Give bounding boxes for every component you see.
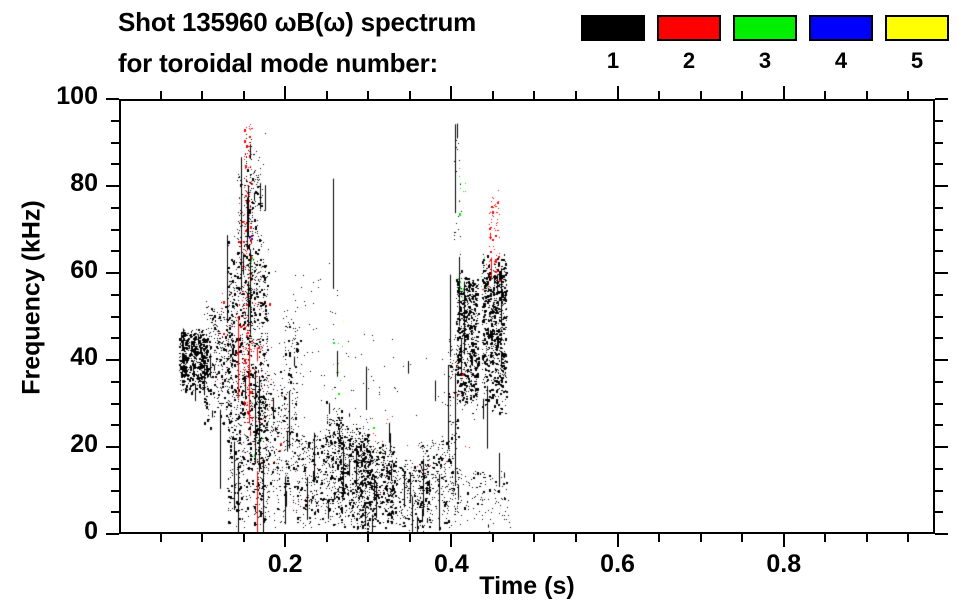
y-axis-title: Frequency (kHz) xyxy=(18,173,47,423)
x-tick-0.75 xyxy=(741,534,743,542)
x-axis-title: Time (s) xyxy=(119,572,935,601)
x-tick-top-0.25 xyxy=(326,91,328,99)
legend-swatch-mode-5 xyxy=(885,15,949,41)
x-tick-top-0.8 xyxy=(783,86,785,99)
legend-swatch-mode-1 xyxy=(581,15,645,41)
y-tick-right-80 xyxy=(935,185,948,187)
legend-item-mode-1[interactable]: 1 xyxy=(581,15,645,72)
y-tick-60 xyxy=(106,272,119,274)
legend: 12345 xyxy=(581,15,953,89)
spectrogram-scatter-canvas xyxy=(121,101,933,532)
y-tick-0 xyxy=(106,533,119,535)
x-tick-0.7 xyxy=(700,534,702,542)
x-tick-top-0.05 xyxy=(160,91,162,99)
y-tick-30 xyxy=(111,403,119,405)
x-tick-0.55 xyxy=(575,534,577,542)
x-tick-0.8 xyxy=(783,534,785,547)
y-tick-50 xyxy=(111,316,119,318)
y-tick-85 xyxy=(111,163,119,165)
legend-swatch-mode-4 xyxy=(809,15,873,41)
x-tick-top-0.85 xyxy=(824,91,826,99)
legend-swatch-mode-3 xyxy=(733,15,797,41)
y-tick-45 xyxy=(111,337,119,339)
x-tick-0.25 xyxy=(326,534,328,542)
x-tick-top-0.15 xyxy=(243,91,245,99)
y-tick-right-25 xyxy=(935,424,943,426)
y-tick-90 xyxy=(111,142,119,144)
y-tick-35 xyxy=(111,381,119,383)
legend-label-mode-1: 1 xyxy=(581,50,645,72)
y-tick-70 xyxy=(111,229,119,231)
y-tick-right-20 xyxy=(935,446,948,448)
legend-swatch-mode-2 xyxy=(657,15,721,41)
legend-label-mode-3: 3 xyxy=(733,50,797,72)
figure-root: Shot 135960 ωB(ω) spectrum for toroidal … xyxy=(0,0,963,615)
x-tick-0.9 xyxy=(866,534,868,542)
x-tick-0.4 xyxy=(450,534,452,547)
y-tick-right-10 xyxy=(935,490,943,492)
y-tick-right-65 xyxy=(935,250,943,252)
y-tick-25 xyxy=(111,424,119,426)
y-tick-right-60 xyxy=(935,272,948,274)
y-tick-40 xyxy=(106,359,119,361)
x-tick-top-0.45 xyxy=(492,91,494,99)
legend-item-mode-5[interactable]: 5 xyxy=(885,15,949,72)
x-tick-0.85 xyxy=(824,534,826,542)
y-tick-label-0: 0 xyxy=(0,517,98,546)
y-tick-55 xyxy=(111,294,119,296)
y-tick-right-95 xyxy=(935,120,943,122)
x-tick-top-0.55 xyxy=(575,91,577,99)
x-tick-top-0.7 xyxy=(700,91,702,99)
y-tick-right-5 xyxy=(935,511,943,513)
y-tick-10 xyxy=(111,490,119,492)
y-tick-label-60: 60 xyxy=(0,256,98,285)
y-tick-5 xyxy=(111,511,119,513)
x-tick-top-0.4 xyxy=(450,86,452,99)
y-tick-right-30 xyxy=(935,403,943,405)
legend-item-mode-2[interactable]: 2 xyxy=(657,15,721,72)
x-tick-top-0.75 xyxy=(741,91,743,99)
y-tick-95 xyxy=(111,120,119,122)
legend-item-mode-4[interactable]: 4 xyxy=(809,15,873,72)
y-tick-right-50 xyxy=(935,316,943,318)
y-tick-right-40 xyxy=(935,359,948,361)
x-tick-0.65 xyxy=(658,534,660,542)
y-tick-label-40: 40 xyxy=(0,343,98,372)
legend-item-mode-3[interactable]: 3 xyxy=(733,15,797,72)
y-tick-right-100 xyxy=(935,98,948,100)
x-tick-top-0.3 xyxy=(367,91,369,99)
y-tick-75 xyxy=(111,207,119,209)
y-tick-right-85 xyxy=(935,163,943,165)
x-tick-0.6 xyxy=(617,534,619,547)
y-tick-65 xyxy=(111,250,119,252)
x-tick-top-0.2 xyxy=(284,86,286,99)
y-tick-20 xyxy=(106,446,119,448)
x-tick-0.3 xyxy=(367,534,369,542)
y-tick-label-100: 100 xyxy=(0,82,98,111)
x-tick-top-0.6 xyxy=(617,86,619,99)
y-tick-right-15 xyxy=(935,468,943,470)
x-tick-0.45 xyxy=(492,534,494,542)
legend-label-mode-4: 4 xyxy=(809,50,873,72)
y-tick-right-90 xyxy=(935,142,943,144)
y-tick-right-75 xyxy=(935,207,943,209)
x-tick-top-0.65 xyxy=(658,91,660,99)
x-tick-0.5 xyxy=(533,534,535,542)
y-tick-right-45 xyxy=(935,337,943,339)
y-tick-right-0 xyxy=(935,533,948,535)
x-tick-0.1 xyxy=(201,534,203,542)
x-tick-top-0.9 xyxy=(866,91,868,99)
y-tick-100 xyxy=(106,98,119,100)
x-tick-top-0.35 xyxy=(409,91,411,99)
plot-area xyxy=(119,99,935,534)
plot-title-line-1: Shot 135960 ωB(ω) spectrum xyxy=(118,7,476,38)
y-tick-right-70 xyxy=(935,229,943,231)
y-tick-label-20: 20 xyxy=(0,430,98,459)
x-tick-0.05 xyxy=(160,534,162,542)
x-tick-0.15 xyxy=(243,534,245,542)
x-tick-top-0.1 xyxy=(201,91,203,99)
legend-label-mode-5: 5 xyxy=(885,50,949,72)
y-tick-80 xyxy=(106,185,119,187)
y-tick-label-80: 80 xyxy=(0,169,98,198)
y-tick-15 xyxy=(111,468,119,470)
x-tick-top-0.5 xyxy=(533,91,535,99)
y-tick-right-55 xyxy=(935,294,943,296)
x-tick-0.35 xyxy=(409,534,411,542)
y-tick-right-35 xyxy=(935,381,943,383)
legend-label-mode-2: 2 xyxy=(657,50,721,72)
x-tick-0.2 xyxy=(284,534,286,547)
x-tick-0.95 xyxy=(907,534,909,542)
x-tick-top-0.95 xyxy=(907,91,909,99)
plot-title-line-2: for toroidal mode number: xyxy=(118,48,438,79)
